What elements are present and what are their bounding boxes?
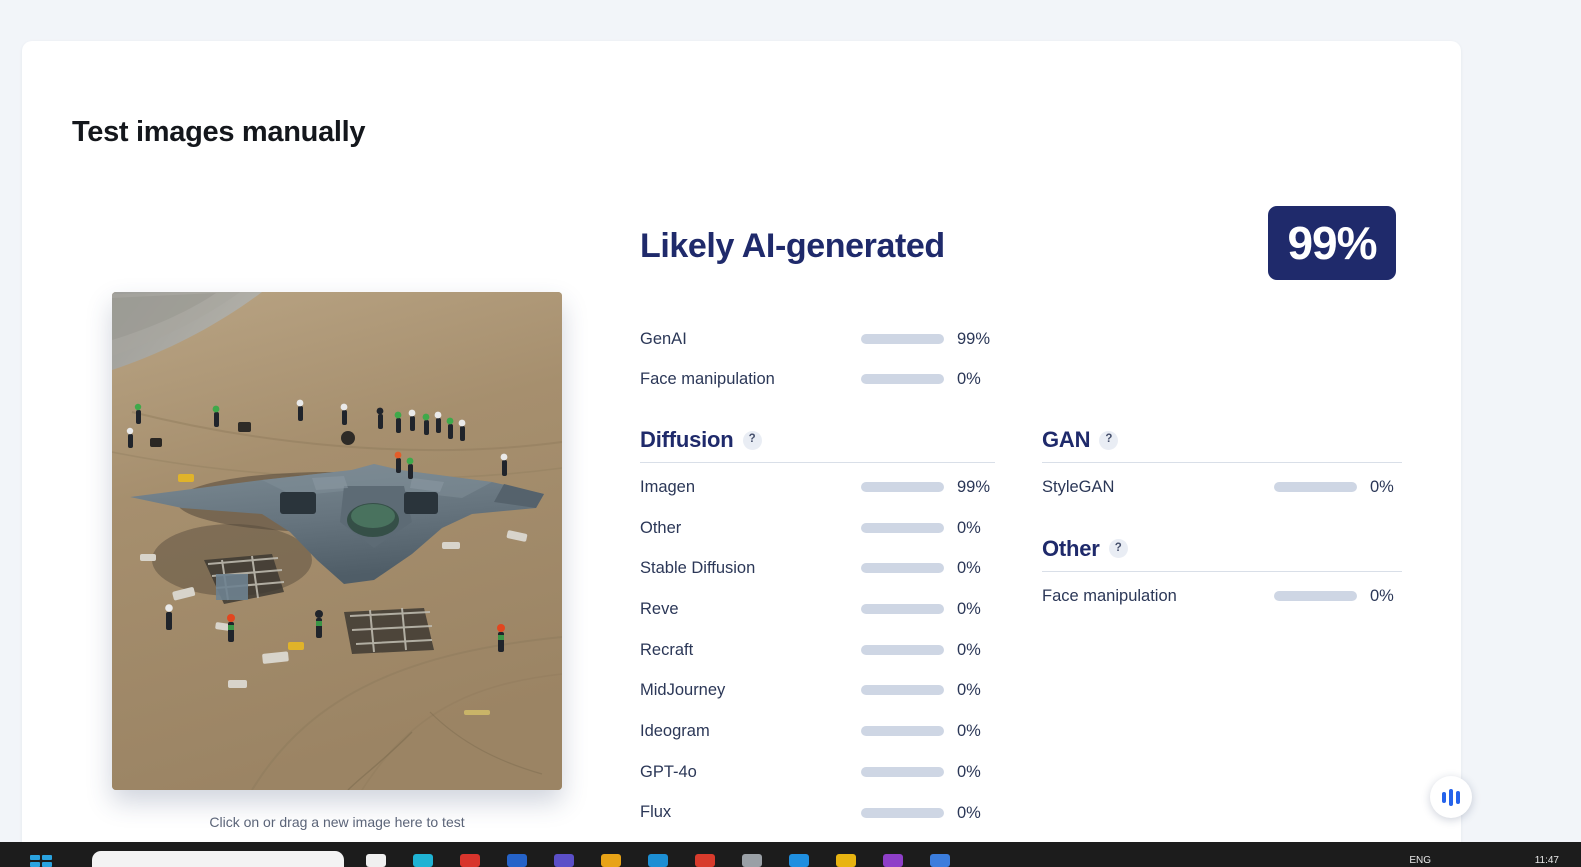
diffusion-section: Diffusion ? Imagen 99% Other 0% Stable D… (640, 427, 995, 867)
progress-track (861, 726, 944, 736)
taskbar-icon-recorder[interactable] (695, 854, 715, 867)
section-divider (1042, 571, 1402, 572)
summary-metrics: GenAI 99% Face manipulation 0% (640, 319, 1020, 399)
taskbar-icon-terminal[interactable] (742, 854, 762, 867)
taskbar-language-indicator[interactable]: ENG (1409, 855, 1431, 867)
progress-track (861, 685, 944, 695)
page-title: Test images manually (72, 116, 365, 149)
gan-section: GAN ? StyleGAN 0% (1042, 427, 1402, 508)
metric-percent: 99% (957, 330, 990, 349)
start-button-icon[interactable] (30, 855, 52, 867)
metric-row: GPT-4o 0% (640, 752, 995, 793)
taskbar-icon-chrome[interactable] (836, 854, 856, 867)
metric-percent: 0% (957, 804, 981, 823)
metric-label: Face manipulation (1042, 587, 1177, 606)
score-badge: 99% (1268, 206, 1396, 280)
metric-label: GPT-4o (640, 763, 697, 782)
section-header: Diffusion ? (640, 427, 995, 462)
metric-label: Stable Diffusion (640, 559, 755, 578)
taskbar-icon-skype[interactable] (883, 854, 903, 867)
main-card: Test images manually (22, 41, 1461, 867)
metric-label: Ideogram (640, 722, 710, 741)
metric-percent: 0% (957, 519, 981, 538)
taskbar-icon-word[interactable] (507, 854, 527, 867)
section-divider (1042, 462, 1402, 463)
taskbar-icon-photo-app[interactable] (460, 854, 480, 867)
taskbar-search-box[interactable] (92, 851, 344, 867)
metric-row: StyleGAN 0% (1042, 467, 1402, 508)
metric-row: Recraft 0% (640, 630, 995, 671)
metric-label: Imagen (640, 478, 695, 497)
metric-label: MidJourney (640, 681, 725, 700)
metric-percent: 0% (957, 370, 981, 389)
section-header: GAN ? (1042, 427, 1402, 462)
metric-percent: 0% (1370, 478, 1394, 497)
metric-label: Face manipulation (640, 370, 775, 389)
uploaded-image-thumbnail[interactable] (112, 292, 562, 790)
progress-track (861, 645, 944, 655)
taskbar-clock[interactable]: 11:47 (1535, 855, 1559, 867)
metric-label: StyleGAN (1042, 478, 1114, 497)
assistant-fab-button[interactable] (1430, 776, 1472, 818)
taskbar-pinned-icons[interactable] (366, 853, 950, 867)
section-header: Other ? (1042, 536, 1402, 571)
metric-row: Flux 0% (640, 793, 995, 834)
metric-row: MidJourney 0% (640, 670, 995, 711)
audio-wave-icon-bar-3 (1456, 791, 1460, 804)
metric-percent: 0% (1370, 587, 1394, 606)
taskbar-icon-notes[interactable] (601, 854, 621, 867)
metric-row: Ideogram 0% (640, 711, 995, 752)
metric-row: Other 0% (640, 508, 995, 549)
audio-wave-icon-bar-2 (1449, 789, 1453, 806)
taskbar-icon-explorer[interactable] (366, 854, 386, 867)
taskbar-icon-copilot[interactable] (554, 854, 574, 867)
metric-label: Flux (640, 803, 671, 822)
progress-track (861, 482, 944, 492)
other-section: Other ? Face manipulation 0% (1042, 536, 1402, 617)
progress-track (861, 374, 944, 384)
metric-percent: 0% (957, 559, 981, 578)
progress-track (861, 808, 944, 818)
upload-caption[interactable]: Click on or drag a new image here to tes… (112, 814, 562, 830)
metric-row: Face manipulation 0% (640, 359, 1020, 399)
metric-row: Stable Diffusion 0% (640, 548, 995, 589)
metric-row: Imagen 99% (640, 467, 995, 508)
section-title: Diffusion (640, 427, 734, 453)
progress-track (861, 334, 944, 344)
section-title: GAN (1042, 427, 1090, 453)
metric-percent: 0% (957, 600, 981, 619)
taskbar-icon-calc[interactable] (930, 854, 950, 867)
metric-label: Other (640, 519, 681, 538)
audio-wave-icon (1442, 792, 1446, 803)
progress-track (861, 604, 944, 614)
metric-label: GenAI (640, 330, 687, 349)
metric-percent: 0% (957, 722, 981, 741)
metric-row: Reve 0% (640, 589, 995, 630)
progress-track (861, 523, 944, 533)
crashed-bomber-photo (112, 292, 562, 790)
progress-track (1274, 482, 1357, 492)
taskbar-icon-teams[interactable] (648, 854, 668, 867)
metric-percent: 0% (957, 763, 981, 782)
progress-track (861, 767, 944, 777)
metric-percent: 0% (957, 641, 981, 660)
windows-taskbar: ENG 11:47 (0, 842, 1581, 867)
verdict-title: Likely AI-generated (640, 227, 945, 266)
progress-track (861, 563, 944, 573)
uploaded-image-panel[interactable]: Click on or drag a new image here to tes… (112, 292, 562, 790)
gan-other-column: GAN ? StyleGAN 0% Other ? Face manipulat… (1042, 427, 1402, 616)
metric-row: GenAI 99% (640, 319, 1020, 359)
help-icon[interactable]: ? (743, 431, 762, 450)
metric-percent: 99% (957, 478, 990, 497)
metric-row: Face manipulation 0% (1042, 576, 1402, 617)
help-icon[interactable]: ? (1099, 431, 1118, 450)
section-title: Other (1042, 536, 1100, 562)
section-divider (640, 462, 995, 463)
taskbar-icon-edge[interactable] (413, 854, 433, 867)
help-icon[interactable]: ? (1109, 539, 1128, 558)
metric-percent: 0% (957, 681, 981, 700)
metric-label: Reve (640, 600, 679, 619)
progress-track (1274, 591, 1357, 601)
metric-label: Recraft (640, 641, 693, 660)
taskbar-icon-mail[interactable] (789, 854, 809, 867)
